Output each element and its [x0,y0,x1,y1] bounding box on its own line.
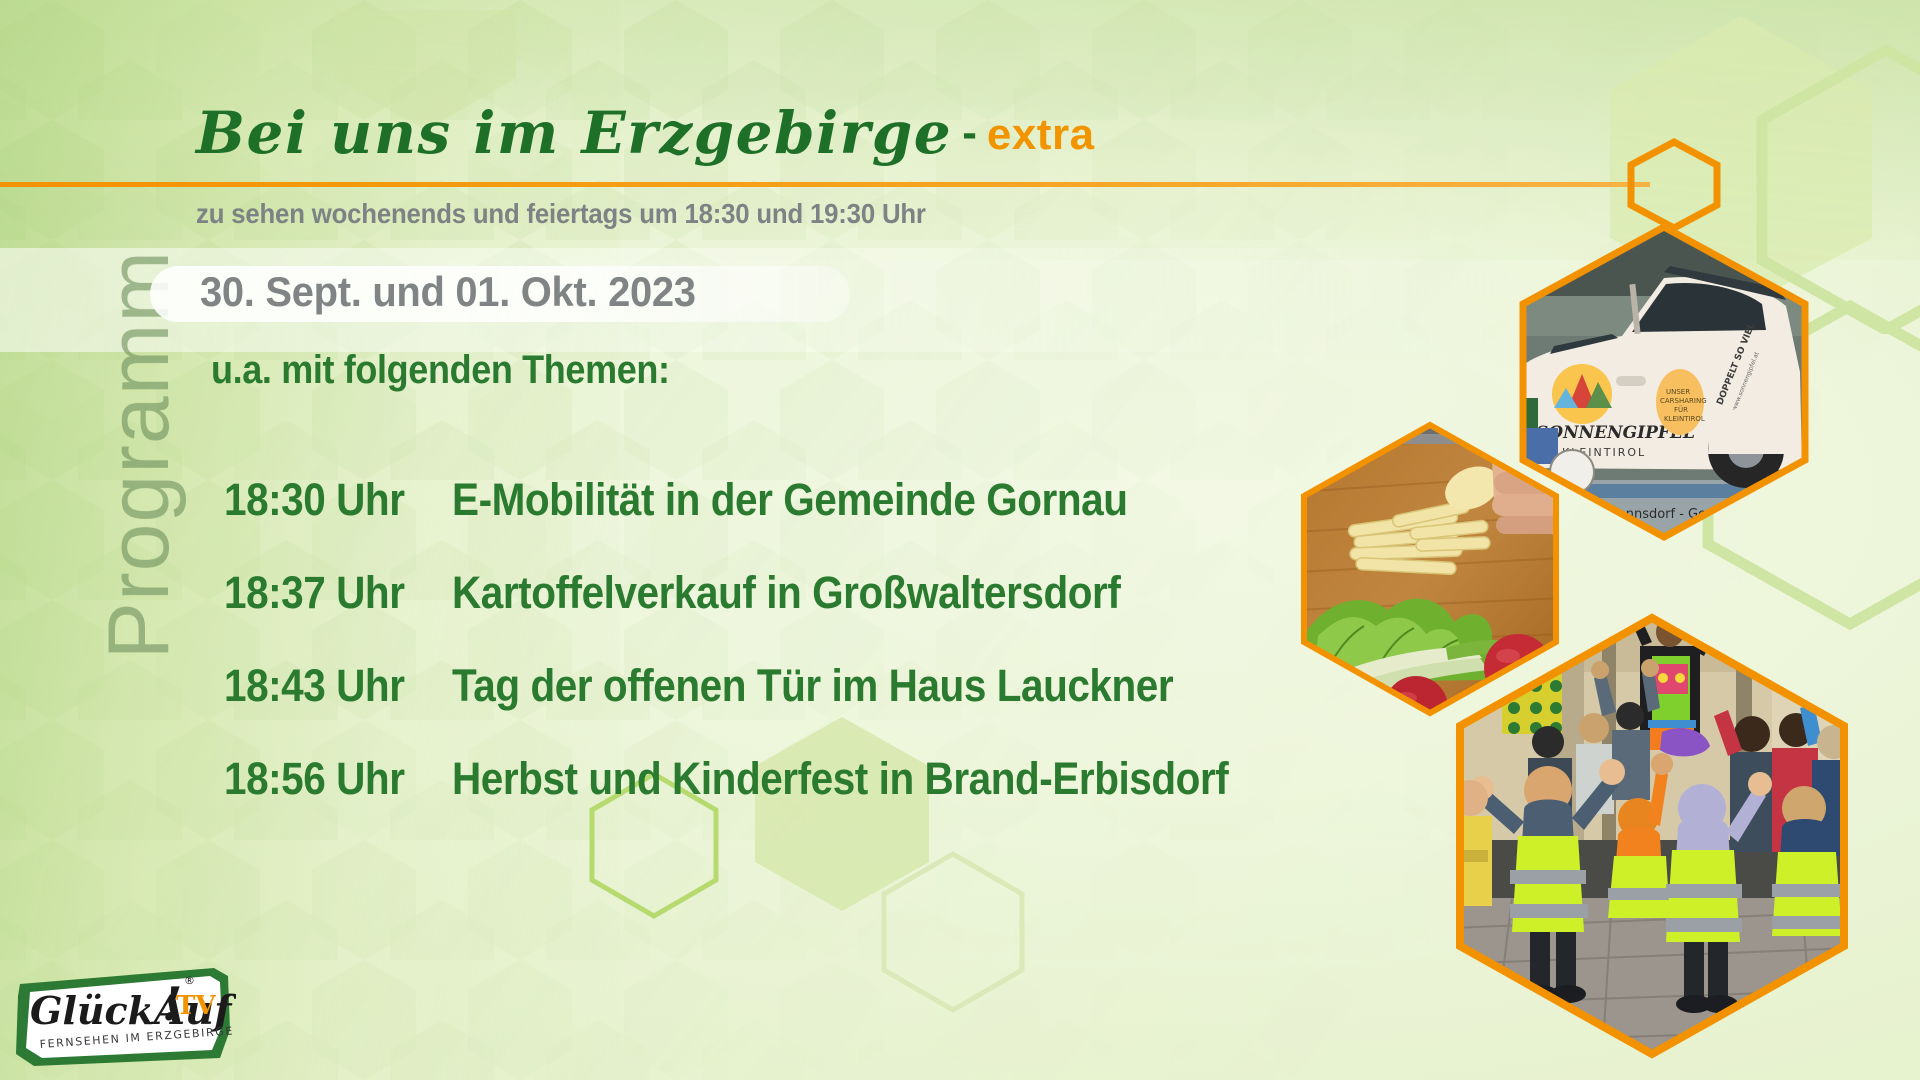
program-time: 18:30 Uhr [224,474,429,526]
svg-text:FÜR: FÜR [1674,405,1688,414]
list-item: 18:56 Uhr Herbst und Kinderfest in Brand… [224,753,1404,846]
divider-end-hex-icon [1627,138,1721,232]
logo-tv: TV [176,991,216,1021]
decor-hex-outline-pale [880,850,1026,1014]
orange-divider-line [0,182,1650,187]
broadcast-date: 30. Sept. und 01. Okt. 2023 [200,268,696,316]
themes-heading: u.a. mit folgenden Themen: [211,348,670,393]
program-topic: Kartoffelverkauf in Großwaltersdorf [452,567,1120,619]
program-list: 18:30 Uhr E-Mobilität in der Gemeinde Go… [224,474,1404,846]
svg-text:CARSHARING: CARSHARING [1660,397,1707,405]
page-title-script: Bei uns im Erzgebirge [196,99,952,167]
photo-children-festival [1452,612,1852,1062]
svg-text:KLEINTIROL: KLEINTIROL [1664,415,1705,423]
svg-text:UNSER: UNSER [1666,388,1690,396]
broadcast-times-subtitle: zu sehen wochenends und feiertags um 18:… [196,198,926,230]
program-topic: Herbst und Kinderfest in Brand-Erbisdorf [452,753,1228,805]
program-topic: Tag der offenen Tür im Haus Lauckner [452,660,1173,712]
list-item: 18:37 Uhr Kartoffelverkauf in Großwalter… [224,567,1404,660]
program-time: 18:43 Uhr [224,660,429,712]
page-title: Bei uns im Erzgebirge-extra [196,104,1095,162]
broadcast-program-slide: Programm Bei uns im Erzgebirge-extra zu … [0,0,1920,1080]
logo-registered: ® [184,974,195,987]
program-time: 18:37 Uhr [224,567,429,619]
list-item: 18:43 Uhr Tag der offenen Tür im Haus La… [224,660,1404,753]
page-title-extra: extra [987,110,1095,159]
program-time: 18:56 Uhr [224,753,429,805]
list-item: 18:30 Uhr E-Mobilität in der Gemeinde Go… [224,474,1404,567]
program-topic: E-Mobilität in der Gemeinde Gornau [452,474,1128,526]
gluckauf-tv-logo: GlückAuf ! TV ® FERNSEHEN IM ERZGEBIRGE [14,962,236,1068]
page-title-dash: - [952,108,987,157]
